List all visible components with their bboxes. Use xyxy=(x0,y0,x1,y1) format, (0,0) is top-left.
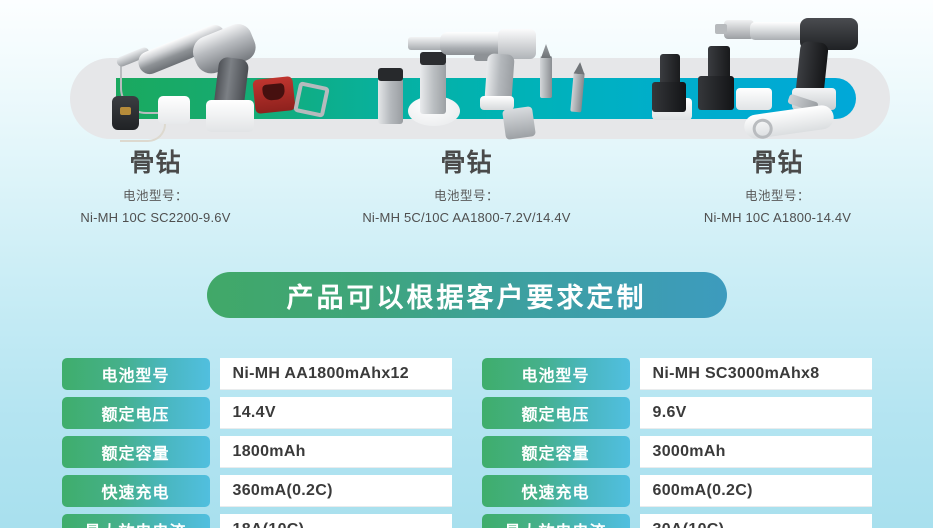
drill-battery-pack-icon xyxy=(206,100,254,132)
table-row: 快速充电 600mA(0.2C) xyxy=(482,475,872,507)
drill-bit-icon xyxy=(540,56,552,98)
product-caption-1: 骨钻 电池型号： Ni-MH 10C SC2200-9.6V xyxy=(0,148,311,225)
spec-value: 30A(10C) xyxy=(640,514,872,528)
product-caption-3: 骨钻 电池型号： Ni-MH 10C A1800-14.4V xyxy=(622,148,933,225)
table-row: 额定电压 14.4V xyxy=(62,397,452,429)
spec-label: 电池型号 xyxy=(62,358,210,390)
spec-table-right: 电池型号 Ni-MH SC3000mAhx8 额定电压 9.6V 额定容量 30… xyxy=(482,358,872,528)
spec-value: 14.4V xyxy=(220,397,452,429)
spec-value: 3000mAh xyxy=(640,436,872,468)
product-model-value: Ni-MH 10C A1800-14.4V xyxy=(622,210,933,225)
table-row: 额定容量 1800mAh xyxy=(62,436,452,468)
table-row: 额定电压 9.6V xyxy=(482,397,872,429)
customization-headline-banner: 产品可以根据客户要求定制 xyxy=(207,272,727,318)
product-title: 骨钻 xyxy=(0,148,311,179)
table-row: 电池型号 Ni-MH AA1800mAhx12 xyxy=(62,358,452,390)
battery-cap-icon xyxy=(378,68,403,81)
battery-cylinder-right-icon xyxy=(420,62,446,114)
product-title: 骨钻 xyxy=(311,148,622,179)
product-caption-2: 骨钻 电池型号： Ni-MH 5C/10C AA1800-7.2V/14.4V xyxy=(311,148,622,225)
spec-value: 1800mAh xyxy=(220,436,452,468)
charger-adapter-icon xyxy=(158,96,190,124)
black-battery-lower-icon xyxy=(698,76,734,110)
red-battery-case-icon xyxy=(252,76,295,114)
sterile-frame-icon xyxy=(293,81,330,118)
spec-table-left: 电池型号 Ni-MH AA1800mAhx12 额定电压 14.4V 额定容量 … xyxy=(62,358,452,528)
table-row: 最大放电电流 18A(10C) xyxy=(62,514,452,528)
spec-value: 18A(10C) xyxy=(220,514,452,528)
battery-cylinder-left-icon xyxy=(378,78,403,124)
table-row: 额定容量 3000mAh xyxy=(482,436,872,468)
spec-value: Ni-MH AA1800mAhx12 xyxy=(220,358,452,390)
spec-label: 额定容量 xyxy=(482,436,630,468)
spec-value: 600mA(0.2C) xyxy=(640,475,872,507)
spec-label: 最大放电电流 xyxy=(62,514,210,528)
spec-label: 最大放电电流 xyxy=(482,514,630,528)
product-model-value: Ni-MH 10C SC2200-9.6V xyxy=(0,210,311,225)
product-model-label: 电池型号： xyxy=(622,185,933,204)
product-title: 骨钻 xyxy=(622,148,933,179)
spec-label: 快速充电 xyxy=(482,475,630,507)
table-row: 电池型号 Ni-MH SC3000mAhx8 xyxy=(482,358,872,390)
table-row: 快速充电 360mA(0.2C) xyxy=(62,475,452,507)
product-photo-surgical-bone-drill-silver xyxy=(98,8,318,136)
spec-value: 360mA(0.2C) xyxy=(220,475,452,507)
product-photo-surgical-bone-drill-black xyxy=(652,6,902,138)
table-row: 最大放电电流 30A(10C) xyxy=(482,514,872,528)
spec-value: Ni-MH SC3000mAhx8 xyxy=(640,358,872,390)
drill-base-icon xyxy=(480,96,514,110)
spec-label: 额定容量 xyxy=(62,436,210,468)
product-model-label: 电池型号： xyxy=(311,185,622,204)
spec-label: 额定电压 xyxy=(62,397,210,429)
product-model-value: Ni-MH 5C/10C AA1800-7.2V/14.4V xyxy=(311,210,622,225)
product-captions: 骨钻 电池型号： Ni-MH 10C SC2200-9.6V 骨钻 电池型号： … xyxy=(0,148,933,225)
specification-tables: 电池型号 Ni-MH AA1800mAhx12 额定电压 14.4V 额定容量 … xyxy=(0,358,933,528)
product-model-label: 电池型号： xyxy=(0,185,311,204)
drill-nose-icon xyxy=(408,37,444,50)
headline-banner-wrapper: 产品可以根据客户要求定制 xyxy=(0,272,933,318)
spec-value: 9.6V xyxy=(640,397,872,429)
spec-label: 额定电压 xyxy=(482,397,630,429)
spec-label: 电池型号 xyxy=(482,358,630,390)
spec-label: 快速充电 xyxy=(62,475,210,507)
product-photo-surgical-bone-drill-steel xyxy=(378,10,608,138)
battery-cap-icon xyxy=(420,52,446,65)
adapter-block-icon xyxy=(502,106,536,140)
black-battery-lower-icon xyxy=(652,82,686,112)
drill-bit-icon xyxy=(570,72,584,113)
charger-dock-icon xyxy=(112,96,139,130)
white-adapter-icon xyxy=(736,88,772,110)
